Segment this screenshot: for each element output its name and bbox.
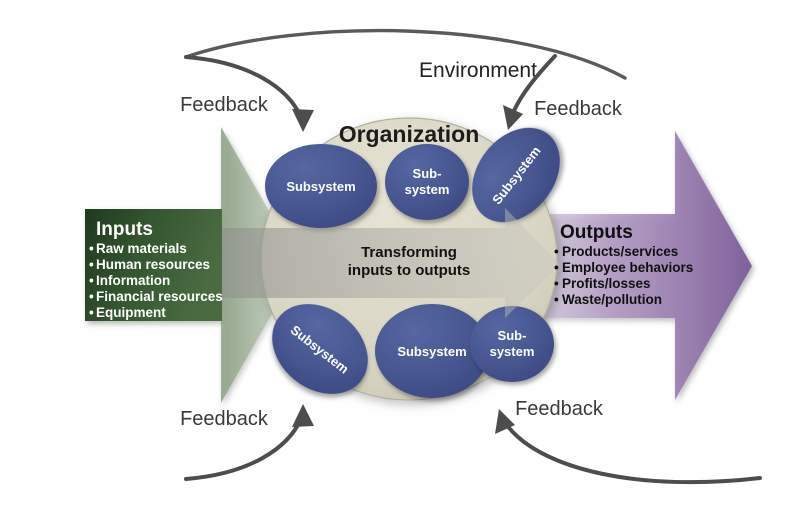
inputs-heading: Inputs [96, 219, 153, 240]
outputs-bullet-3: • [554, 292, 559, 307]
transforming-label-line1: Transforming [361, 244, 457, 261]
inputs-bullet-2: • [89, 273, 94, 288]
outputs-item-2: Profits/losses [562, 276, 651, 291]
feedback-label-top-left: Feedback [180, 94, 269, 116]
feedback-label-top-right: Feedback [534, 98, 623, 120]
outputs-bullet-0: • [554, 244, 559, 259]
inputs-bullet-1: • [89, 257, 94, 272]
subsystem-top-center: Sub- system [385, 144, 469, 220]
inputs-bullet-4: • [89, 305, 94, 320]
subsystem-bottom-center-label: Subsystem [397, 344, 466, 359]
outputs-item-3: Waste/pollution [562, 292, 662, 307]
outputs-bullet-2: • [554, 276, 559, 291]
subsystem-top-center-label-line1: Sub- [413, 166, 442, 181]
subsystem-top-left: Subsystem [265, 144, 377, 228]
subsystem-top-left-label: Subsystem [286, 179, 355, 194]
subsystem-top-center-label-line2: system [405, 182, 450, 197]
subsystem-bottom-right: Sub- system [470, 306, 554, 382]
organization-label: Organization [339, 121, 480, 147]
systems-diagram: Organization Subsystem Sub- system Subsy… [0, 0, 800, 531]
subsystem-bottom-right-label-line2: system [490, 344, 535, 359]
outputs-bullet-1: • [554, 260, 559, 275]
inputs-bullet-0: • [89, 241, 94, 256]
outputs-heading: Outputs [560, 222, 633, 243]
inputs-item-4: Equipment [96, 305, 166, 320]
inputs-panel: Inputs Raw materials Human resources Inf… [85, 209, 223, 321]
feedback-label-bottom-left: Feedback [180, 408, 269, 430]
diagram-canvas: Organization Subsystem Sub- system Subsy… [0, 0, 800, 531]
transforming-label-line2: inputs to outputs [348, 262, 470, 279]
inputs-item-0: Raw materials [96, 241, 187, 256]
outputs-item-0: Products/services [562, 244, 678, 259]
environment-label: Environment [419, 59, 537, 82]
outputs-item-1: Employee behaviors [562, 260, 693, 275]
inputs-bullet-3: • [89, 289, 94, 304]
inputs-item-1: Human resources [96, 257, 210, 272]
subsystem-bottom-right-label-line1: Sub- [498, 328, 527, 343]
inputs-item-3: Financial resources [96, 289, 223, 304]
inputs-item-2: Information [96, 273, 170, 288]
feedback-label-bottom-right: Feedback [515, 398, 604, 420]
